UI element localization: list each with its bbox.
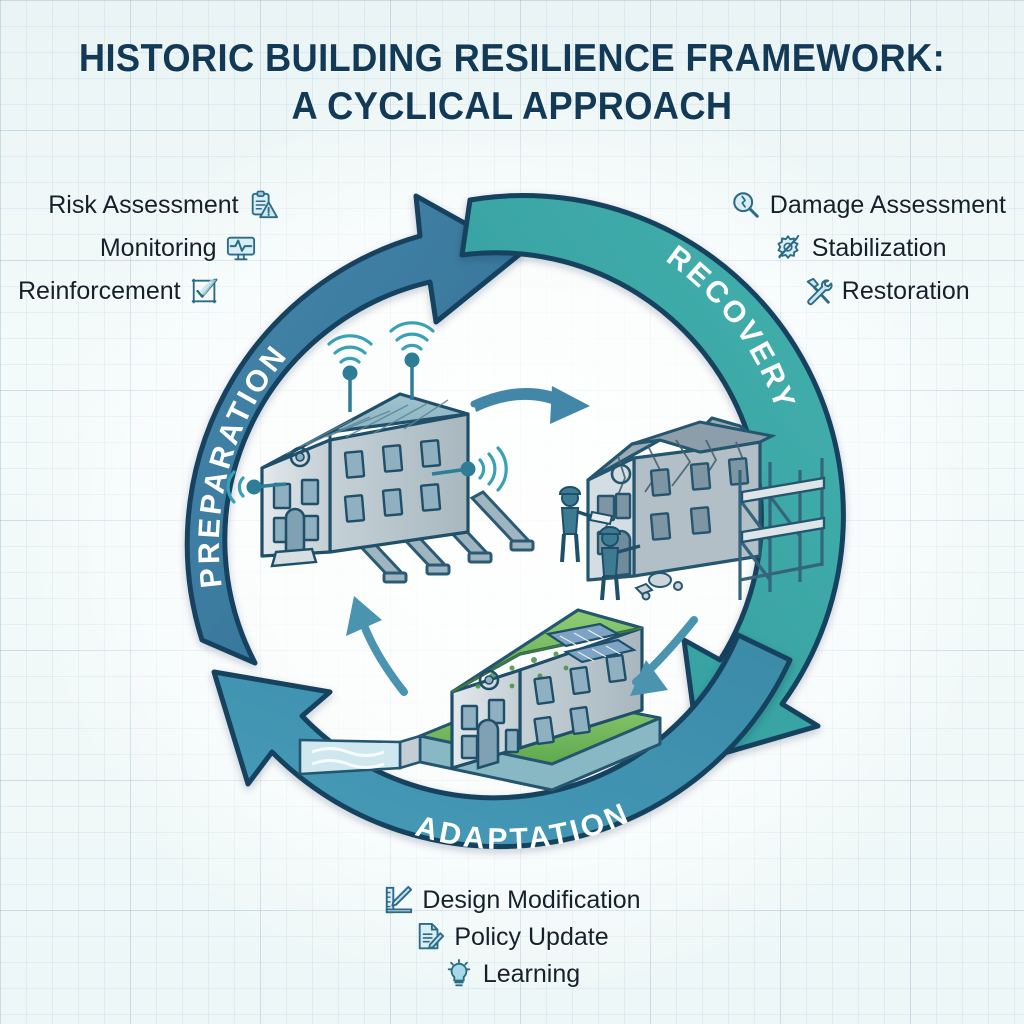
list-item[interactable]: Restoration [731, 276, 1006, 306]
label-learning: Learning [483, 959, 580, 989]
label-damage-assessment: Damage Assessment [770, 190, 1006, 220]
label-design-modification: Design Modification [422, 885, 640, 915]
label-restoration: Restoration [842, 276, 970, 306]
label-policy-update: Policy Update [454, 922, 608, 952]
list-item[interactable]: Policy Update [0, 922, 1024, 952]
hammer-wrench-icon [803, 276, 833, 306]
document-pencil-icon [415, 922, 445, 952]
clipboard-warning-icon [248, 190, 278, 220]
recovery-label-group: Damage Assessment Stabilization Restorat… [731, 190, 1006, 319]
adapted-building-illustration [300, 610, 660, 790]
lightbulb-icon [444, 959, 474, 989]
infographic-canvas: HISTORIC BUILDING RESILIENCE FRAMEWORK: … [0, 0, 1024, 1024]
ruler-pencil-icon [383, 885, 413, 915]
list-item[interactable]: Risk Assessment [18, 190, 278, 220]
label-risk-assessment: Risk Assessment [48, 190, 238, 220]
inner-arrow-adapted-to-prepared [346, 596, 404, 692]
preparation-label-group: Risk Assessment Monitoring Reinforcemen [18, 190, 278, 319]
label-monitoring: Monitoring [100, 233, 217, 263]
label-stabilization: Stabilization [812, 233, 947, 263]
list-item[interactable]: Reinforcement [18, 276, 278, 306]
gear-brace-icon [773, 233, 803, 263]
list-item[interactable]: Design Modification [0, 885, 1024, 915]
label-reinforcement: Reinforcement [18, 276, 181, 306]
list-item[interactable]: Stabilization [731, 233, 1006, 263]
list-item[interactable]: Monitoring [18, 233, 278, 263]
magnifier-crack-icon [731, 190, 761, 220]
list-item[interactable]: Learning [0, 959, 1024, 989]
adaptation-label-group: Design Modification Policy Update Learni… [0, 885, 1024, 996]
list-item[interactable]: Damage Assessment [731, 190, 1006, 220]
inner-arrow-prepared-to-damaged [474, 386, 590, 424]
cycle-diagram: PREPARATION RECOVERY ADAPTATION [0, 0, 1024, 1024]
monitor-pulse-icon [226, 233, 256, 263]
checkmark-square-icon [190, 276, 220, 306]
